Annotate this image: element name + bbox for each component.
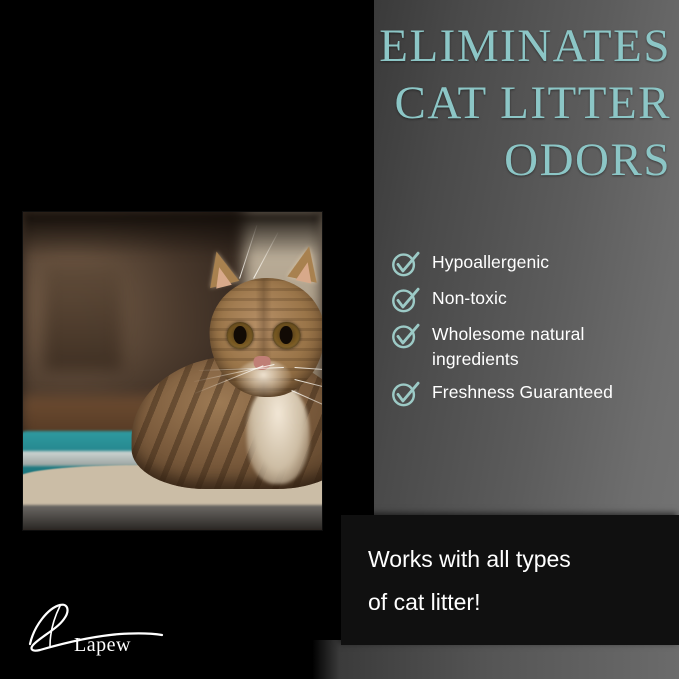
headline-line-3: ODORS [271, 132, 671, 189]
feature-label: Non-toxic [432, 286, 507, 311]
litter-box-base [23, 505, 322, 530]
kitten-nose [254, 356, 271, 370]
product-advertisement: ELIMINATES CAT LITTER ODORS [0, 0, 679, 679]
kitten-chest [247, 383, 310, 484]
tagline-panel: Works with all types of cat litter! [341, 515, 679, 645]
feature-label: Wholesome natural ingredients [432, 322, 675, 372]
kitten-pupil-right [280, 326, 293, 344]
feature-list: Hypoallergenic Non-toxic Wholesome natur… [390, 250, 675, 416]
check-circle-icon [390, 378, 420, 408]
feature-item: Freshness Guaranteed [390, 380, 675, 408]
feature-label: Hypoallergenic [432, 250, 549, 275]
photo-scene [23, 212, 322, 530]
headline: ELIMINATES CAT LITTER ODORS [271, 18, 671, 189]
feature-item: Wholesome natural ingredients [390, 322, 675, 372]
tagline-line-1: Works with all types [368, 538, 658, 581]
brand-name: Lapew [74, 634, 131, 657]
kitten-pupil-left [234, 326, 247, 344]
headline-line-2: CAT LITTER [271, 75, 671, 132]
feature-item: Non-toxic [390, 286, 675, 314]
kitten [165, 260, 322, 489]
check-circle-icon [390, 284, 420, 314]
feature-label: Freshness Guaranteed [432, 380, 613, 405]
tagline: Works with all types of cat litter! [368, 538, 658, 624]
photo-background-furniture [44, 263, 122, 371]
brand-logo: Lapew [24, 600, 184, 662]
headline-line-1: ELIMINATES [271, 18, 671, 75]
feature-item: Hypoallergenic [390, 250, 675, 278]
check-circle-icon [390, 320, 420, 350]
photo-top-shadow [23, 212, 322, 257]
check-circle-icon [390, 248, 420, 278]
tagline-line-2: of cat litter! [368, 581, 658, 624]
kitten-litter-box-photo [23, 212, 322, 530]
